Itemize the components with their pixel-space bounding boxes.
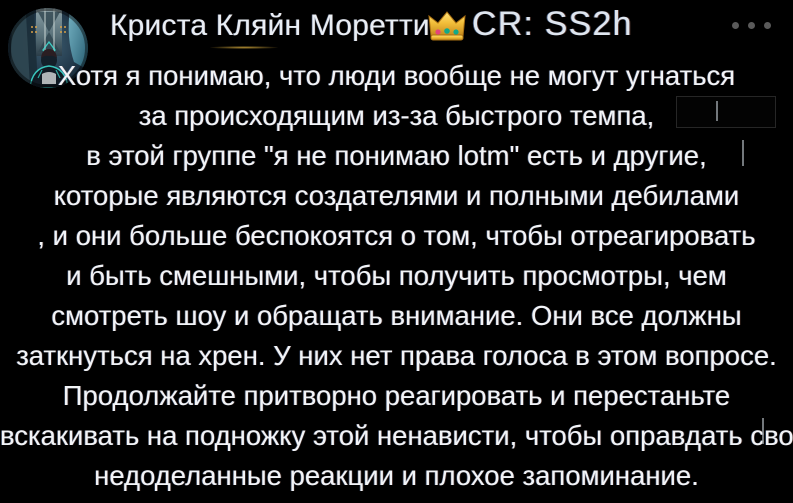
message-line: и быть смешными, чтобы получить просмотр… (0, 256, 793, 296)
message-body: Хотя я понимаю, что люди вообще не могут… (0, 56, 793, 496)
message-line: Хотя я понимаю, что люди вообще не могут… (0, 56, 793, 96)
message-line: Продолжайте притворно реагировать и пере… (0, 376, 793, 416)
username[interactable]: Криста Кляйн Моретти (110, 9, 430, 43)
message-line: смотреть шоу и обращать внимание. Они вс… (0, 296, 793, 336)
message-header: Криста Кляйн Моретти CR: SS2h (0, 0, 793, 52)
more-options-button[interactable] (732, 22, 771, 29)
more-dot (748, 22, 755, 29)
message-line: , и они больше беспокоятся о том, чтобы … (0, 216, 793, 256)
handle-text: CR: SS2h (472, 4, 633, 44)
text-caret-artifact (716, 101, 718, 121)
more-dot (764, 22, 771, 29)
more-dot (732, 22, 739, 29)
text-caret-artifact (742, 140, 744, 166)
message-line: за происходящим из-за быстрого темпа, (0, 96, 793, 136)
ghost-overlay-artifact (676, 96, 776, 128)
message-line: заткнуться на хрен. У них нет права голо… (0, 336, 793, 376)
crown-icon (427, 8, 467, 42)
name-underline-artifact (210, 46, 278, 49)
message-line: которые являются создателями и полными д… (0, 176, 793, 216)
message-line: вскакивать на подножку этой ненависти, ч… (0, 416, 793, 456)
text-caret-artifact (762, 418, 764, 444)
screenshot-root: Криста Кляйн Моретти CR: SS2h (0, 0, 793, 503)
message-line: недоделанные реакции и плохое запоминани… (0, 456, 793, 496)
message-line: в этой группе "я не понимаю lotm" есть и… (0, 136, 793, 176)
